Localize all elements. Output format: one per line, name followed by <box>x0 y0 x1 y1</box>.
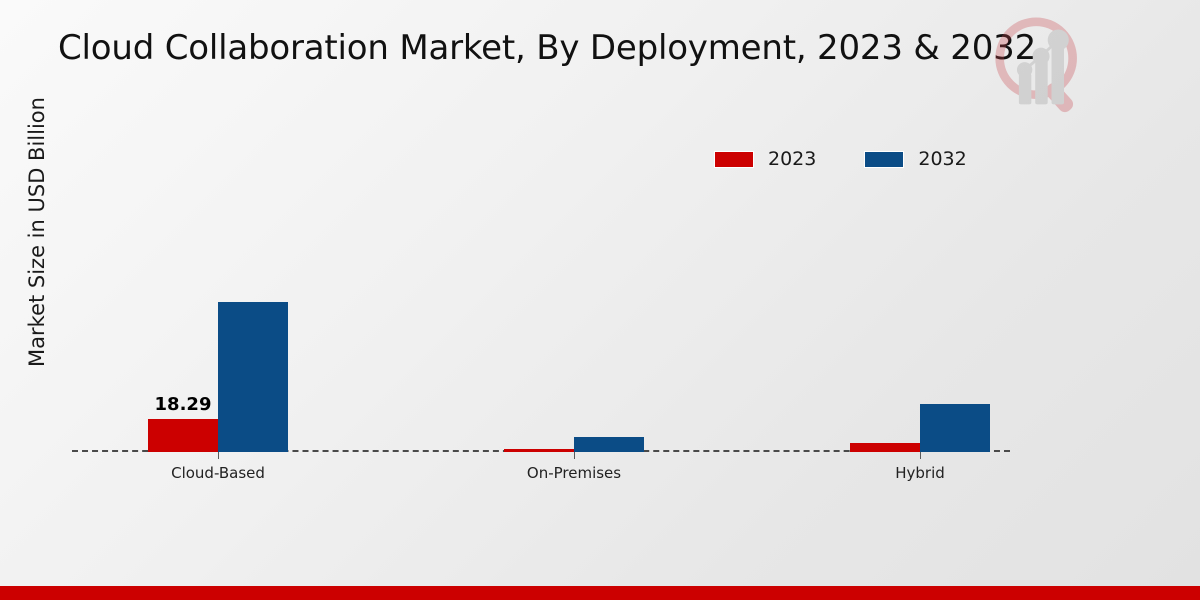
plot-area: 18.29 Cloud-Based On-Premises <box>72 180 1010 452</box>
bar-2023-hybrid[interactable] <box>850 443 920 452</box>
bar-group-hybrid: Hybrid <box>825 180 1015 452</box>
bar-group-on-premises: On-Premises <box>479 180 669 452</box>
legend-item-2023[interactable]: 2023 <box>714 148 816 170</box>
chart-title: Cloud Collaboration Market, By Deploymen… <box>58 28 1036 68</box>
bar-2023-on-premises[interactable] <box>504 449 574 452</box>
bar-2032-cloud-based[interactable] <box>218 302 288 452</box>
legend-label-2032: 2032 <box>918 148 966 170</box>
bar-value-2023-cloud-based: 18.29 <box>155 394 212 415</box>
category-label-cloud-based: Cloud-Based <box>171 464 265 482</box>
category-label-hybrid: Hybrid <box>895 464 945 482</box>
bar-2032-on-premises[interactable] <box>574 437 644 452</box>
legend-swatch-2023-icon <box>714 151 754 168</box>
tick-mark-cloud-based <box>218 452 219 459</box>
footer-accent-bar <box>0 586 1200 600</box>
category-label-on-premises: On-Premises <box>527 464 621 482</box>
legend-item-2032[interactable]: 2032 <box>864 148 966 170</box>
y-axis-title: Market Size in USD Billion <box>25 67 49 397</box>
tick-mark-on-premises <box>574 452 575 459</box>
chart-container: Cloud Collaboration Market, By Deploymen… <box>0 0 1200 600</box>
bar-2032-hybrid[interactable] <box>920 404 990 452</box>
legend-label-2023: 2023 <box>768 148 816 170</box>
tick-mark-hybrid <box>920 452 921 459</box>
bar-2023-cloud-based[interactable]: 18.29 <box>148 419 218 452</box>
bar-group-cloud-based: 18.29 Cloud-Based <box>123 180 313 452</box>
legend-swatch-2032-icon <box>864 151 904 168</box>
chart-legend: 2023 2032 <box>714 148 967 170</box>
